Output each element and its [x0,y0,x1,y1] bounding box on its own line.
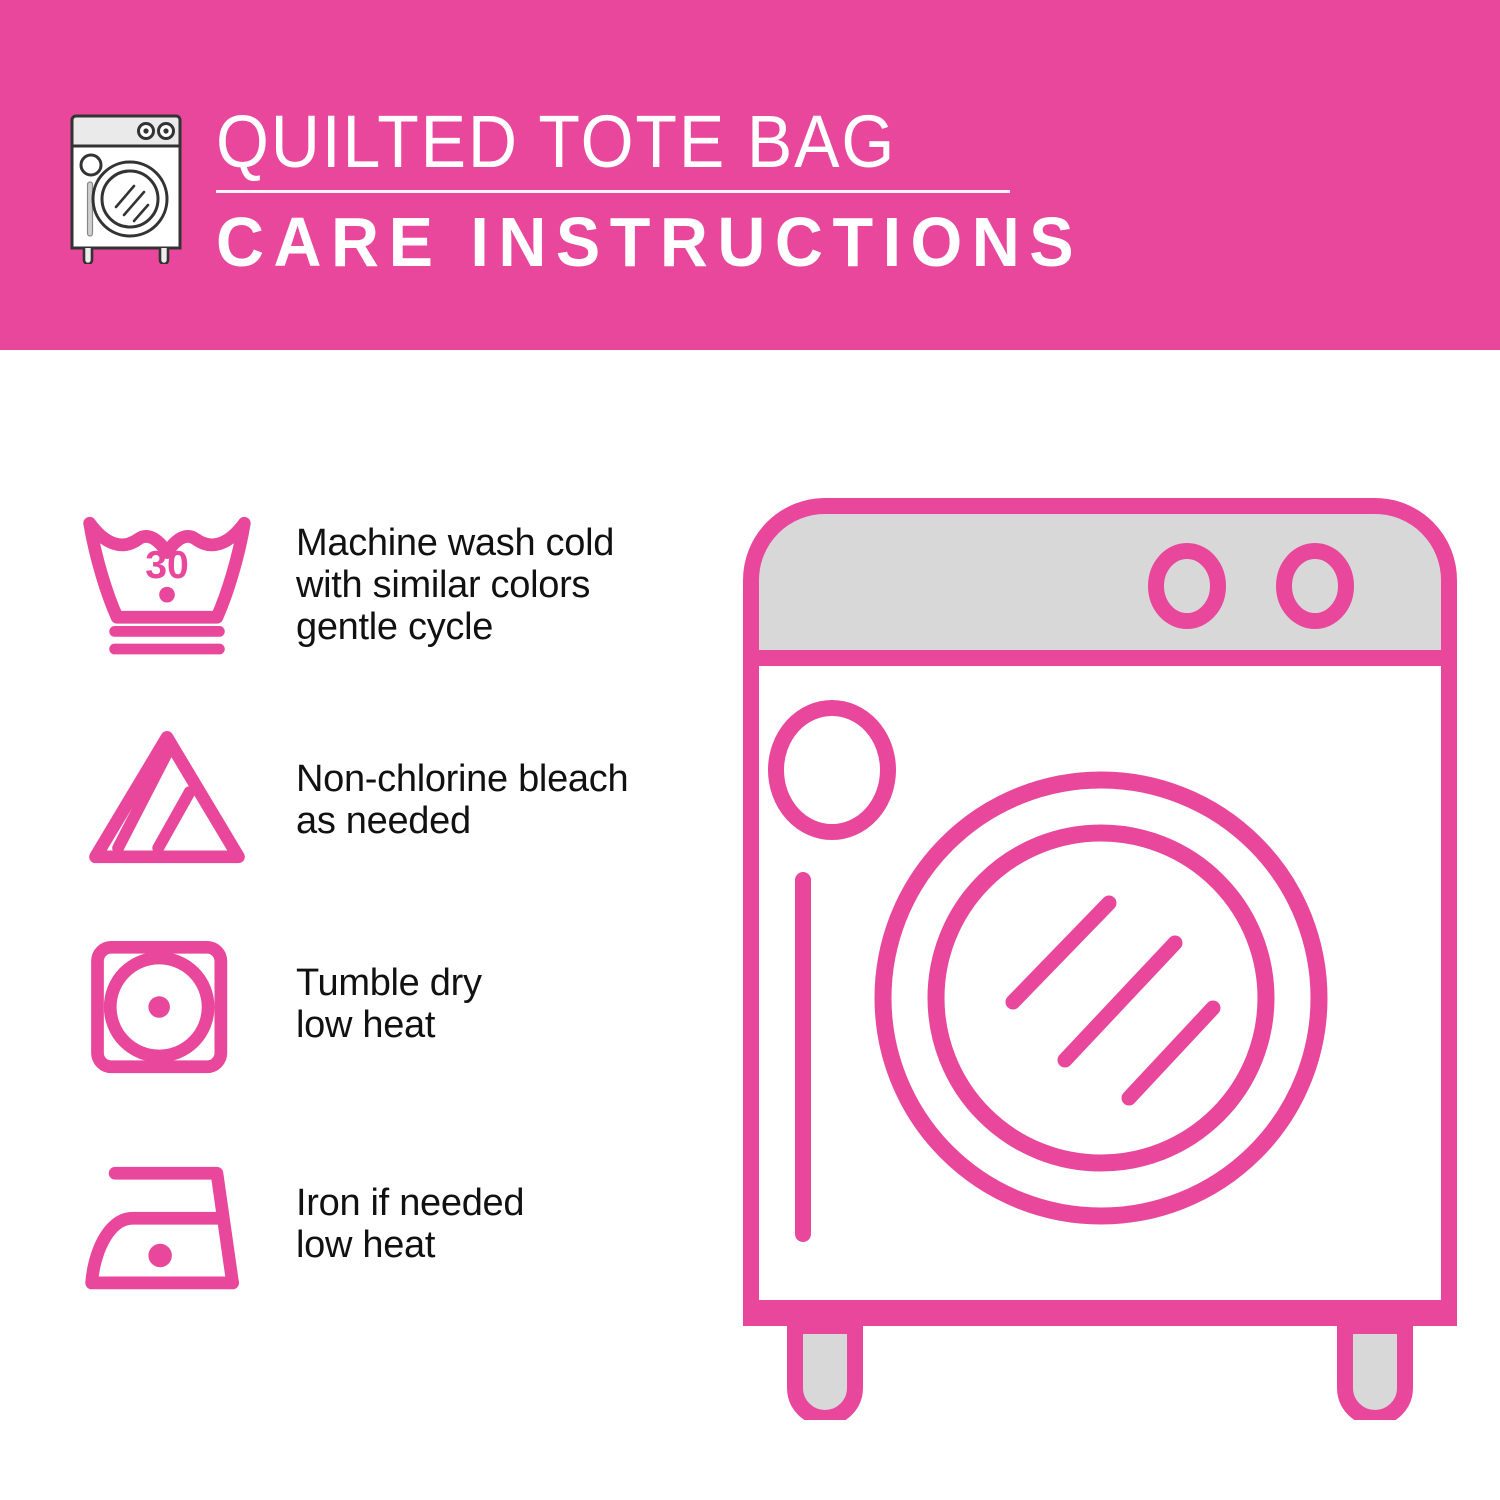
care-instructions-page: QUILTED TOTE BAG CARE INSTRUCTIONS 30 [0,0,1500,1500]
care-row-tumble-dry: Tumble dry low heat [60,920,720,1130]
care-line: as needed [296,800,628,842]
care-line: low heat [296,1004,482,1046]
bleach-triangle-icon [60,710,260,880]
care-line: Iron if needed [296,1182,524,1224]
svg-text:30: 30 [145,544,189,587]
page-subtitle: CARE INSTRUCTIONS [216,203,976,281]
tumble-dry-low-icon [60,920,260,1090]
care-line: Tumble dry [296,962,482,1004]
care-line: with similar colors [296,564,614,606]
page-title: QUILTED TOTE BAG [216,100,952,184]
care-line: gentle cycle [296,606,614,648]
iron-low-heat-icon [60,1130,260,1300]
care-text-machine-wash: Machine wash cold with similar colors ge… [260,500,614,648]
care-line: Non-chlorine bleach [296,758,628,800]
care-row-bleach: Non-chlorine bleach as needed [60,710,720,920]
care-instruction-list: 30 Machine wash cold with similar colors… [60,500,720,1340]
care-text-tumble-dry: Tumble dry low heat [260,920,482,1046]
care-row-machine-wash: 30 Machine wash cold with similar colors… [60,500,720,710]
header-band: QUILTED TOTE BAG CARE INSTRUCTIONS [0,0,1500,350]
wash-tub-30-icon: 30 [60,500,260,670]
care-text-bleach: Non-chlorine bleach as needed [260,710,628,842]
washing-machine-icon [62,104,190,264]
title-divider [216,190,1010,193]
care-row-iron: Iron if needed low heat [60,1130,720,1340]
care-line: Machine wash cold [296,522,614,564]
front-load-washing-machine-illustration [735,490,1465,1420]
header-title-group: QUILTED TOTE BAG CARE INSTRUCTIONS [216,100,1016,281]
care-line: low heat [296,1224,524,1266]
care-text-iron: Iron if needed low heat [260,1130,524,1266]
